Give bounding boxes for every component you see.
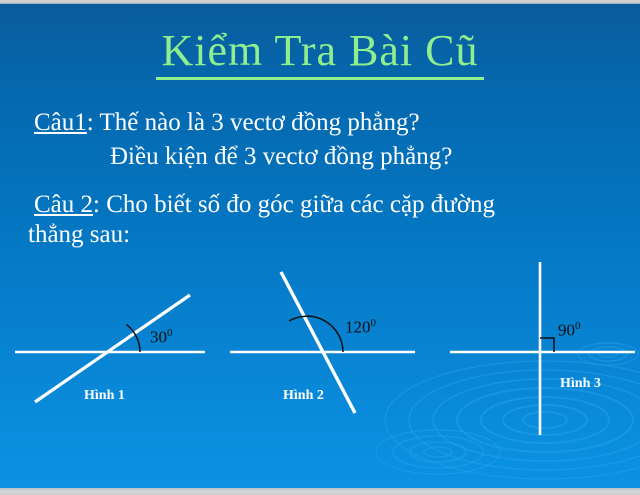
figure-3-drawing (440, 255, 640, 450)
figure-2-angle-label: 1200 (345, 315, 376, 336)
figure-3-angle-label: 900 (558, 318, 581, 339)
question-2-text: : Cho biết số đo góc giữa các cặp đường (93, 191, 495, 218)
figure-2-degree-symbol: 0 (371, 317, 377, 329)
figure-2-caption: Hình 2 (283, 388, 324, 404)
question-1-line-2: Điều kiện để 3 vectơ đồng phẳng? (110, 142, 452, 172)
bottom-edge-bar (0, 488, 640, 495)
figure-1-diagonal-line (35, 295, 190, 402)
figure-1-caption: Hình 1 (84, 388, 125, 404)
slide-title-text: Kiểm Tra Bài Cũ (156, 26, 485, 80)
figure-2-angle-value: 120 (345, 318, 371, 337)
question-1-line-1: Câu1: Thế nào là 3 vectơ đồng phẳng? (34, 108, 420, 138)
question-2-line-2: thẳng sau: (28, 220, 130, 250)
question-1-label: Câu1 (34, 109, 87, 136)
question-2-label: Câu 2 (34, 191, 93, 218)
figure-3-caption: Hình 3 (560, 376, 601, 392)
figure-3-right-angle-marker (540, 338, 554, 352)
figure-1-angle-label: 300 (150, 325, 173, 346)
slide-title: Kiểm Tra Bài Cũ (0, 26, 640, 76)
slide-canvas: Kiểm Tra Bài Cũ Câu1: Thế nào là 3 vectơ… (0, 0, 640, 495)
figure-3-angle-value: 90 (558, 321, 575, 340)
top-edge-bar (0, 0, 640, 4)
figure-3-degree-symbol: 0 (575, 320, 581, 332)
figure-2-angle-arc (289, 316, 343, 352)
question-1-text: : Thế nào là 3 vectơ đồng phẳng? (87, 109, 420, 136)
figure-1-angle-value: 30 (150, 328, 167, 347)
figure-1-degree-symbol: 0 (167, 327, 173, 339)
question-2-line-1: Câu 2: Cho biết số đo góc giữa các cặp đ… (34, 190, 495, 220)
